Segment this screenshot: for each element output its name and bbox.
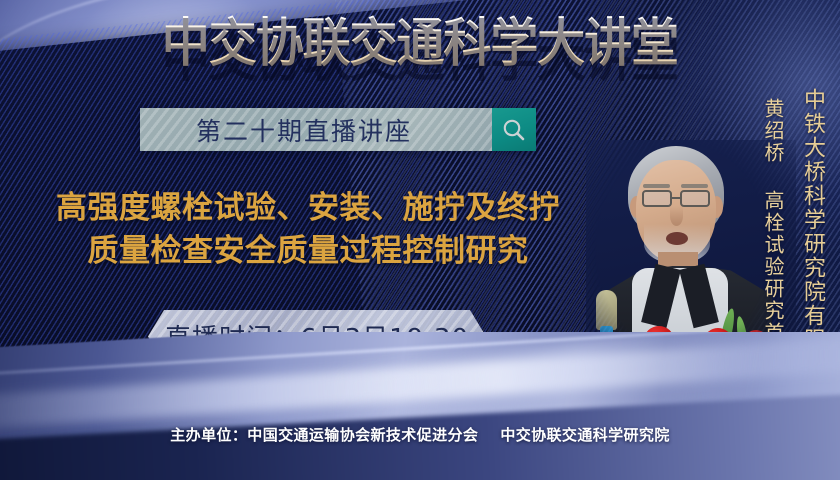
speaker-eyebrow-left [643,184,670,188]
search-button[interactable] [492,108,536,151]
footer-silk-band [0,332,840,480]
lecture-subtitle-line-2: 质量检查安全质量过程控制研究 [8,231,608,272]
microphone-head [596,290,617,330]
eyeglasses-lens-left [642,190,672,207]
search-input-value: 第二十期直播讲座 [196,112,412,148]
search-bar[interactable]: 第二十期直播讲座 [140,108,536,151]
speaker-eyebrow-right [681,184,708,188]
footer-org-1: 中国交通运输协会新技术促进分会 [247,426,478,444]
page-title: 中交协联交通科学大讲堂 [34,14,807,75]
speaker-mouth [666,232,688,245]
search-icon [501,117,527,143]
search-input[interactable]: 第二十期直播讲座 [140,108,492,151]
poster-canvas: 中交协联交通科学大讲堂 中交协联交通科学大讲堂 第二十期直播讲座 高强度螺栓试验… [0,0,840,480]
footer-org-2: 中交协联交通科学研究院 [500,426,669,444]
lecture-subtitle: 高强度螺栓试验、安装、施拧及终拧 质量检查安全质量过程控制研究 [8,188,608,272]
eyeglasses-lens-right [680,190,710,207]
footer-organizers: 主办单位：中国交通运输协会新技术促进分会中交协联交通科学研究院 [0,424,840,445]
speaker-nose [670,206,683,226]
eyeglasses-bridge [672,197,680,199]
footer-label: 主办单位： [170,426,247,444]
lecture-subtitle-line-1: 高强度螺栓试验、安装、施拧及终拧 [8,188,608,229]
